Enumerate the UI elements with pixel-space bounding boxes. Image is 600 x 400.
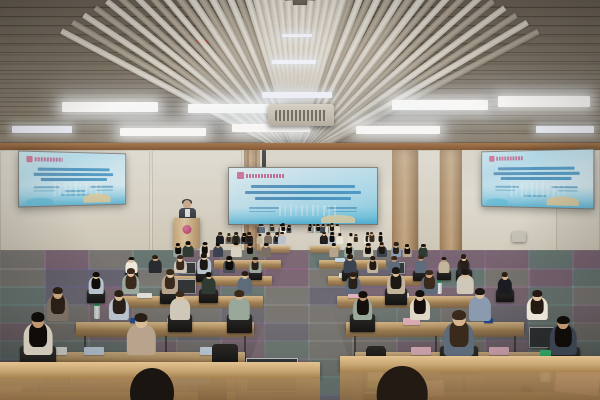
- led-panel-light: [356, 126, 440, 134]
- led-panel-light: [12, 126, 72, 133]
- foreground-attendee-head: [377, 366, 428, 400]
- led-panel-light: [188, 104, 280, 113]
- foreground-attendee: [109, 368, 195, 400]
- air-conditioner-cassette: [268, 104, 334, 126]
- led-panel-light: [536, 126, 594, 133]
- led-panel-light: [498, 96, 590, 107]
- led-panel-light: [282, 34, 312, 37]
- led-panel-light: [272, 60, 316, 64]
- foreground-attendee: [353, 366, 452, 400]
- conference-hall-photo: [0, 0, 600, 400]
- led-panel-light: [62, 102, 158, 112]
- foreground-attendee-head: [130, 368, 174, 400]
- led-panel-light: [262, 92, 332, 98]
- led-panel-light: [392, 100, 488, 110]
- ceiling: [0, 0, 600, 152]
- led-panel-light: [120, 128, 206, 136]
- seated-audience: [0, 150, 600, 400]
- ac-grille: [275, 110, 327, 121]
